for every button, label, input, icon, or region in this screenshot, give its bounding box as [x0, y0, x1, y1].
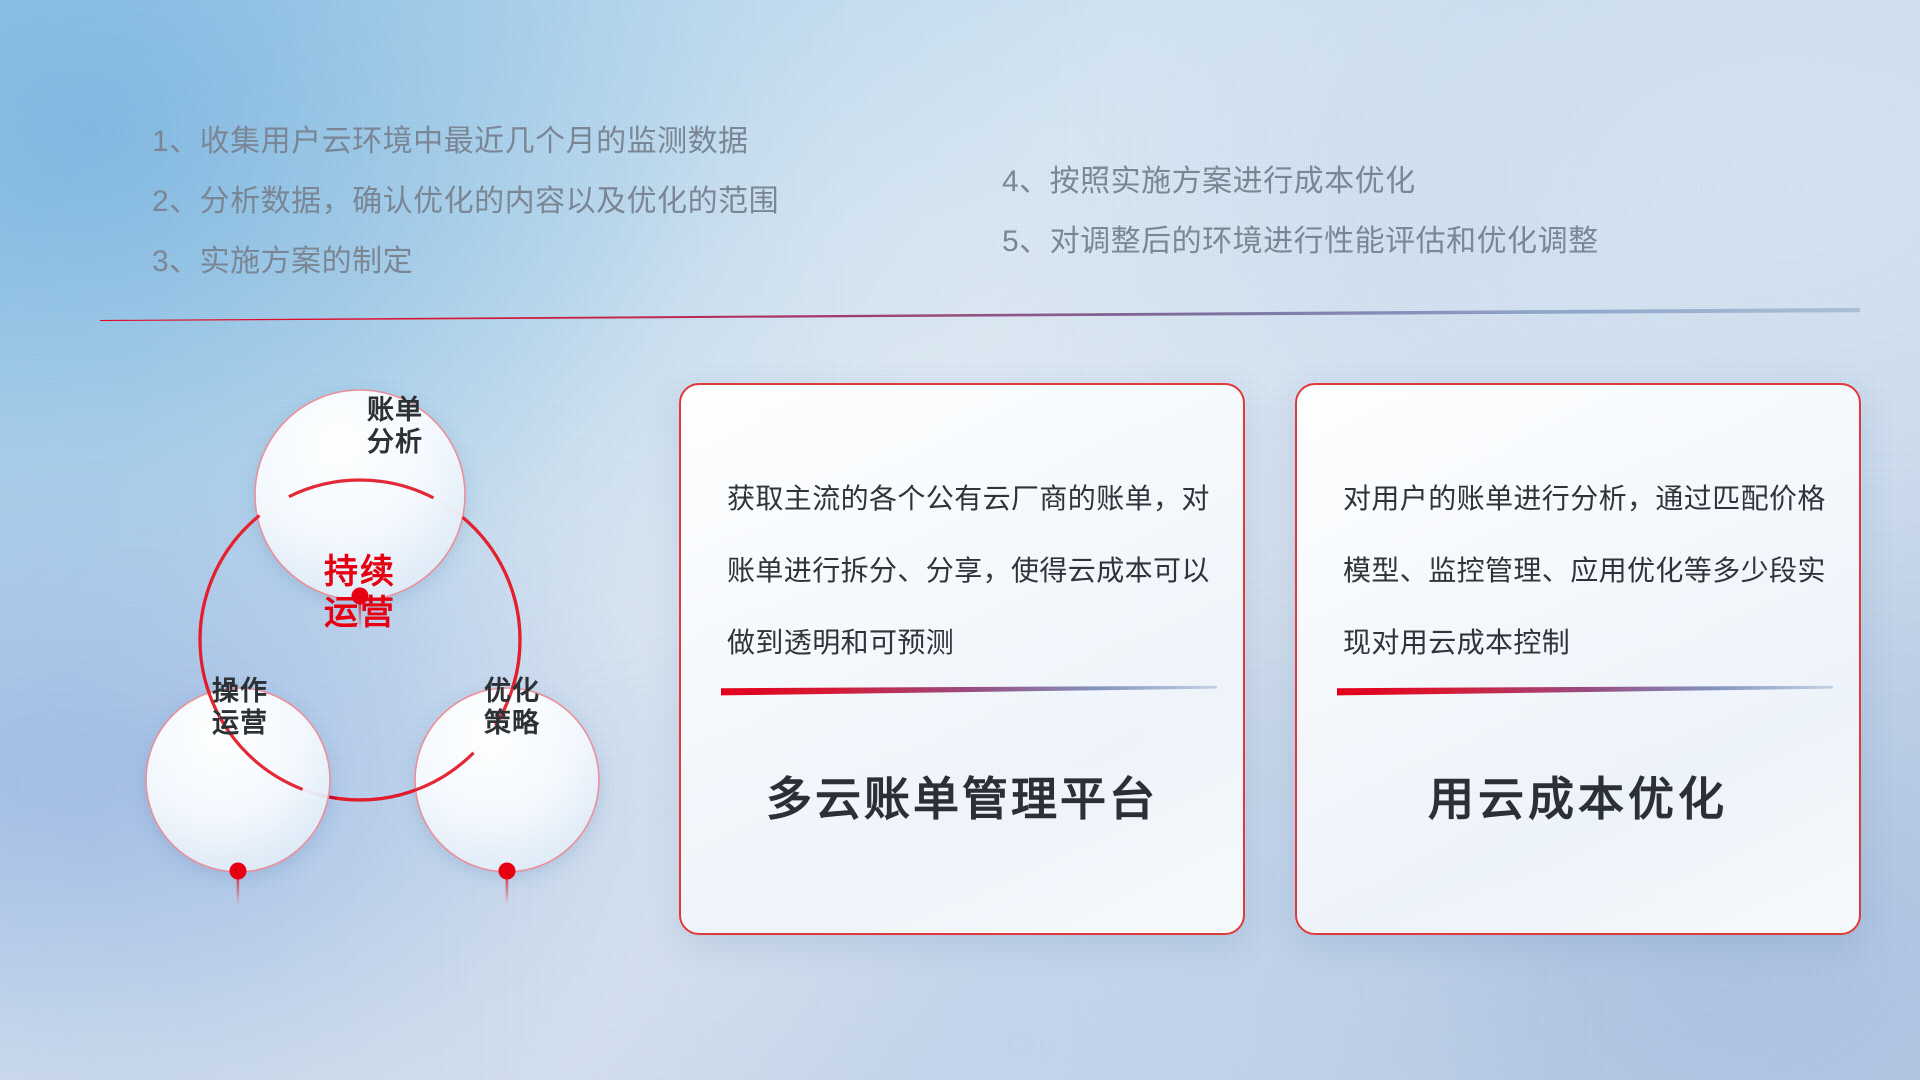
card-divider [1337, 685, 1833, 697]
steps-list-left: 1、收集用户云环境中最近几个月的监测数据 2、分析数据，确认优化的内容以及优化的… [152, 127, 779, 277]
step-item: 1、收集用户云环境中最近几个月的监测数据 [152, 127, 779, 157]
feature-card-cost-optimization[interactable]: 对用户的账单进行分析，通过匹配价格模型、监控管理、应用优化等多少段实现对用云成本… [1295, 383, 1861, 935]
card-title: 多云账单管理平台 [681, 763, 1243, 829]
connector-top [352, 588, 369, 633]
slide-canvas: 1、收集用户云环境中最近几个月的监测数据 2、分析数据，确认优化的内容以及优化的… [0, 0, 1920, 1080]
card-title: 用云成本优化 [1297, 763, 1859, 829]
continuous-operations-diagram [90, 340, 630, 960]
step-item: 5、对调整后的环境进行性能评估和优化调整 [1002, 227, 1599, 257]
card-body-text: 获取主流的各个公有云厂商的账单，对账单进行拆分、分享，使得云成本可以做到透明和可… [727, 463, 1213, 679]
step-item: 2、分析数据，确认优化的内容以及优化的范围 [152, 187, 779, 217]
step-item: 3、实施方案的制定 [152, 247, 779, 277]
connector-right [499, 863, 516, 906]
card-divider [721, 685, 1217, 697]
steps-list-right: 4、按照实施方案进行成本优化 5、对调整后的环境进行性能评估和优化调整 [1002, 167, 1599, 257]
card-body-text: 对用户的账单进行分析，通过匹配价格模型、监控管理、应用优化等多少段实现对用云成本… [1343, 463, 1829, 679]
venn-node-top[interactable] [255, 390, 465, 600]
step-item: 4、按照实施方案进行成本优化 [1002, 167, 1599, 197]
feature-card-billing-platform[interactable]: 获取主流的各个公有云厂商的账单，对账单进行拆分、分享，使得云成本可以做到透明和可… [679, 383, 1245, 935]
connector-left [230, 863, 247, 906]
venn-node-left[interactable] [146, 688, 330, 872]
venn-node-right[interactable] [415, 688, 599, 872]
